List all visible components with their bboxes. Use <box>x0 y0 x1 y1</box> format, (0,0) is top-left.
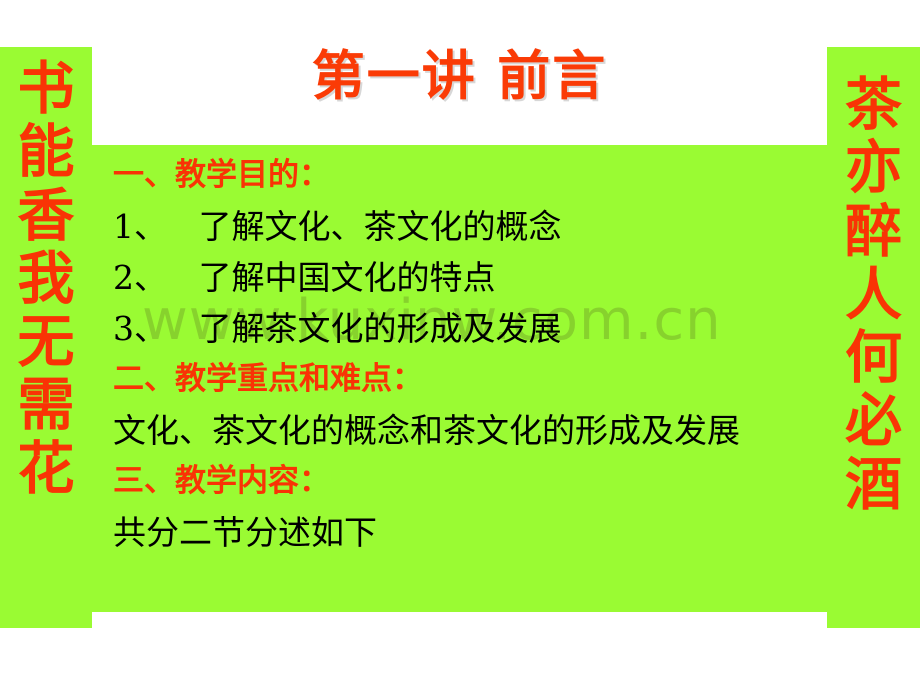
right-couplet-text: 茶 亦 醉 人 何 必 酒 <box>827 47 920 654</box>
right-couplet-char: 酒 <box>845 453 902 516</box>
body-line-item-1: 1、 了解文化、茶文化的概念 <box>113 201 827 252</box>
left-couplet-char: 书 <box>18 57 75 120</box>
body-line-para-1: 文化、茶文化的概念和茶文化的形成及发展 <box>113 405 827 456</box>
right-couplet-char: 何 <box>845 326 902 389</box>
body-line-heading-1: 一、教学目的： <box>113 150 827 201</box>
slide-canvas: 书 能 香 我 无 需 花 茶 亦 醉 人 何 必 酒 www.kuxinw.c… <box>0 0 920 691</box>
left-couplet-char: 花 <box>18 437 75 500</box>
right-couplet-char: 必 <box>845 389 902 452</box>
right-couplet-char: 人 <box>845 263 902 326</box>
slide-title: 第一讲 前言 <box>92 50 827 103</box>
body-line-item-2: 2、 了解中国文化的特点 <box>113 252 827 303</box>
body-line-heading-2: 二、教学重点和难点： <box>113 354 827 405</box>
left-couplet-text: 书 能 香 我 无 需 花 <box>0 47 92 638</box>
left-couplet-char: 需 <box>18 373 75 436</box>
left-couplet-char: 香 <box>18 184 75 247</box>
body-line-item-3: 3、 了解茶文化的形成及发展 <box>113 303 827 354</box>
right-couplet-panel: 茶 亦 醉 人 何 必 酒 <box>827 47 920 628</box>
slide-body: 一、教学目的： 1、 了解文化、茶文化的概念 2、 了解中国文化的特点 3、 了… <box>113 150 827 558</box>
left-couplet-char: 我 <box>18 247 75 310</box>
right-couplet-char: 醉 <box>845 200 902 263</box>
right-couplet-char: 茶 <box>845 73 902 136</box>
body-line-heading-3: 三、教学内容： <box>113 456 827 507</box>
left-couplet-panel: 书 能 香 我 无 需 花 <box>0 47 92 628</box>
left-couplet-char: 无 <box>18 310 75 373</box>
left-couplet-char: 能 <box>18 120 75 183</box>
body-line-para-2: 共分二节分述如下 <box>113 507 827 558</box>
right-couplet-char: 亦 <box>845 136 902 199</box>
